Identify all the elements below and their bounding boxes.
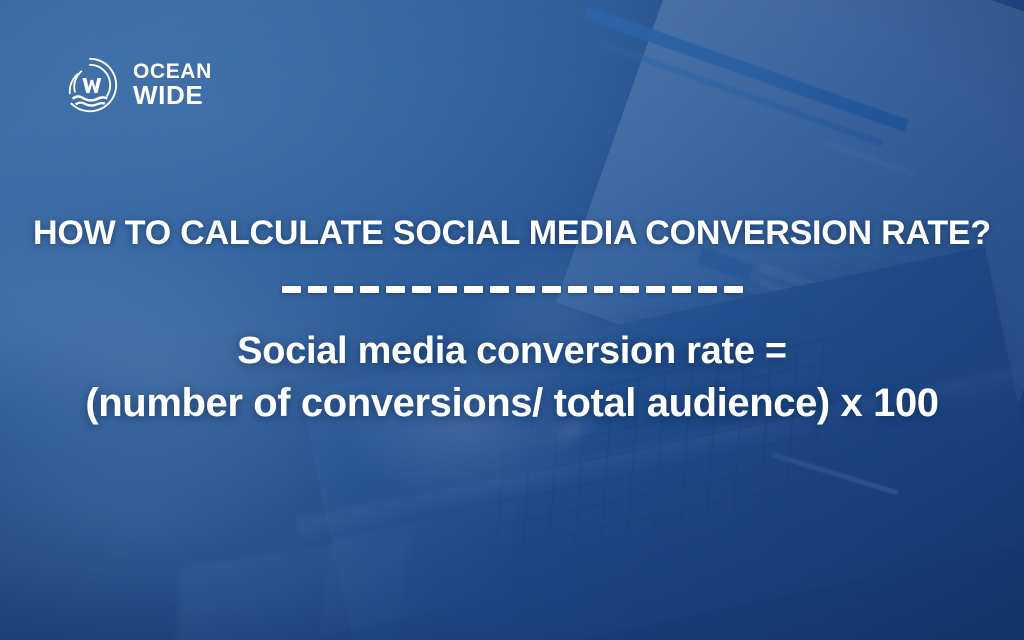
ocean-wave-w-circle-icon (60, 55, 120, 115)
divider-dash (672, 286, 691, 293)
banner-content: OCEAN WIDE HOW TO CALCULATE SOCIAL MEDIA… (0, 0, 1024, 640)
divider-dash (568, 286, 587, 293)
divider-dash (386, 286, 405, 293)
divider-dash (646, 286, 665, 293)
divider-dash (620, 286, 639, 293)
divider-dash (698, 286, 717, 293)
divider-dash (308, 286, 327, 293)
formula-block: Social media conversion rate = (number o… (0, 325, 1024, 430)
divider-dash (334, 286, 353, 293)
banner-graphic: OCEAN WIDE HOW TO CALCULATE SOCIAL MEDIA… (0, 0, 1024, 640)
divider-dash (438, 286, 457, 293)
formula-line-2: (number of conversions/ total audience) … (0, 377, 1024, 430)
page-title: HOW TO CALCULATE SOCIAL MEDIA CONVERSION… (0, 214, 1024, 253)
divider-dash (282, 286, 301, 293)
formula-line-1: Social media conversion rate = (0, 325, 1024, 377)
dashed-divider (0, 286, 1024, 293)
divider-dash (594, 286, 613, 293)
divider-dash (724, 286, 743, 293)
divider-dash (490, 286, 509, 293)
brand-logo: OCEAN WIDE (60, 55, 212, 115)
divider-dash (464, 286, 483, 293)
divider-dash (542, 286, 561, 293)
brand-name-line2: WIDE (133, 83, 212, 108)
divider-dash (360, 286, 379, 293)
brand-wordmark: OCEAN WIDE (133, 62, 212, 108)
divider-dash (516, 286, 535, 293)
divider-dash (412, 286, 431, 293)
